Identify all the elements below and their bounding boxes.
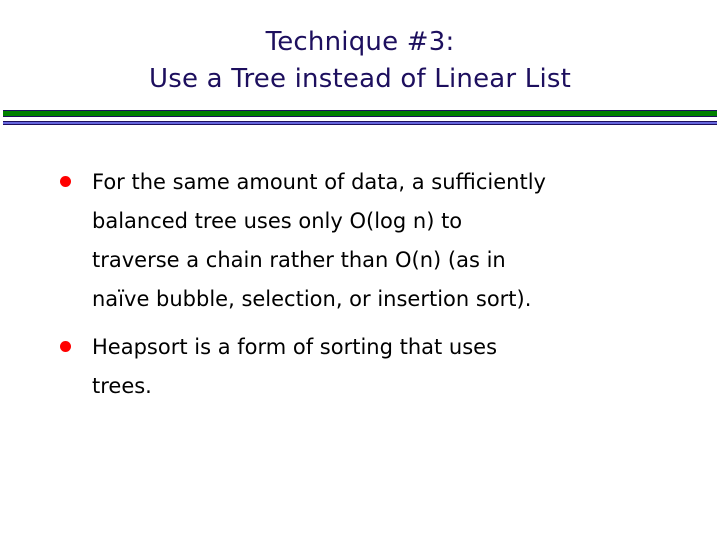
bullet-line: traverse a chain rather than O(n) (as in: [92, 241, 688, 280]
bullet-line: naïve bubble, selection, or insertion so…: [92, 280, 688, 319]
presentation-slide: Technique #3: Use a Tree instead of Line…: [0, 0, 720, 540]
bullet-line: Heapsort is a form of sorting that uses: [92, 328, 688, 367]
bullet-circle-icon: [60, 176, 71, 187]
bullet-line: trees.: [92, 367, 688, 406]
divider-green-bar: [3, 110, 717, 117]
divider-blue-bar: [3, 121, 717, 125]
title-divider: [3, 110, 717, 125]
list-item: Heapsort is a form of sorting that uses …: [58, 328, 688, 406]
bullet-line: balanced tree uses only O(log n) to: [92, 202, 688, 241]
bullet-line: For the same amount of data, a sufficien…: [92, 163, 688, 202]
list-item: For the same amount of data, a sufficien…: [58, 163, 688, 319]
slide-body: For the same amount of data, a sufficien…: [58, 163, 688, 406]
slide-title-line-2: Use a Tree instead of Linear List: [0, 61, 720, 98]
bullet-text: For the same amount of data, a sufficien…: [92, 163, 688, 319]
bullet-text: Heapsort is a form of sorting that uses …: [92, 328, 688, 406]
slide-title: Technique #3: Use a Tree instead of Line…: [0, 24, 720, 98]
slide-title-line-1: Technique #3:: [0, 24, 720, 61]
bullet-circle-icon: [60, 341, 71, 352]
